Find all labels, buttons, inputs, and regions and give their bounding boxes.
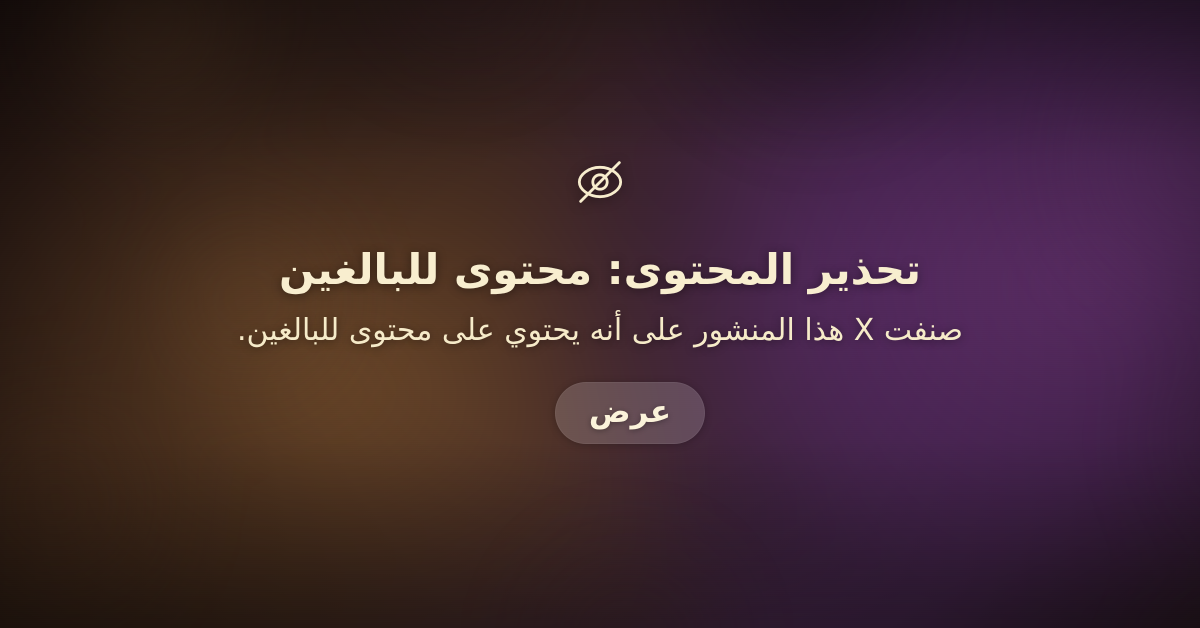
eye-off-icon bbox=[568, 150, 632, 214]
warning-panel: تحذير المحتوى: محتوى للبالغين صنفت X هذا… bbox=[0, 0, 1200, 628]
content-warning-screen: تحذير المحتوى: محتوى للبالغين صنفت X هذا… bbox=[0, 0, 1200, 628]
view-button[interactable]: عرض bbox=[555, 382, 705, 444]
warning-actions: عرض bbox=[0, 382, 1200, 444]
warning-body-text: صنفت X هذا المنشور على أنه يحتوي على محت… bbox=[237, 311, 963, 352]
warning-title: تحذير المحتوى: محتوى للبالغين bbox=[279, 244, 921, 295]
